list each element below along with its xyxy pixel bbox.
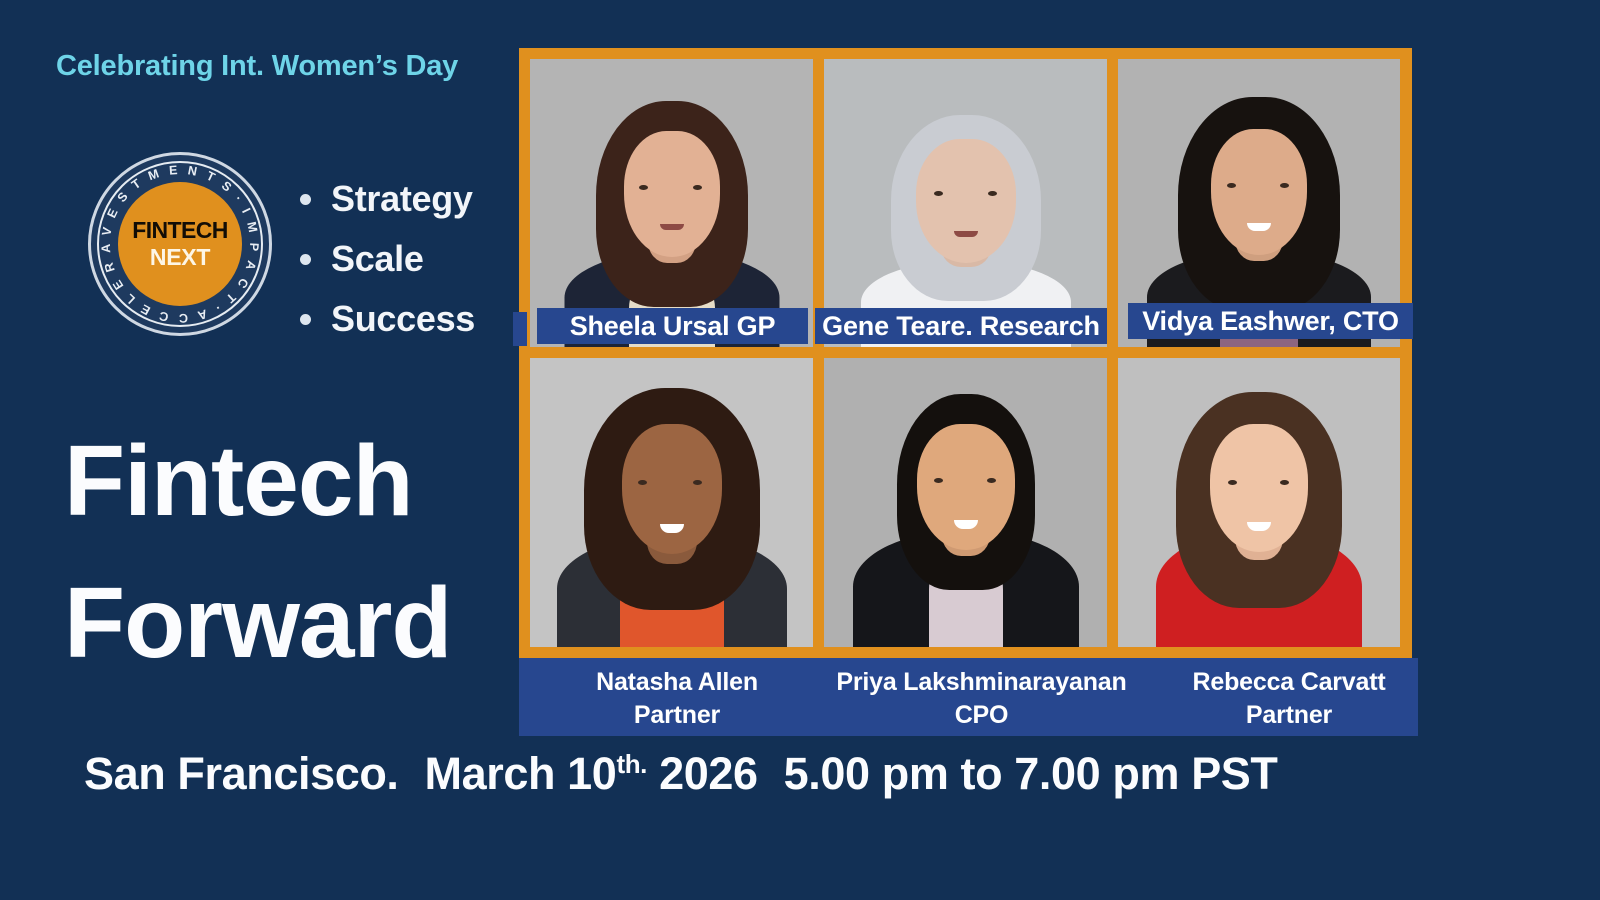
bullet-dot-icon: [300, 194, 311, 205]
speaker-label-bar-bottom: Natasha Allen Partner Priya Lakshminaray…: [519, 658, 1418, 736]
event-city: San Francisco.: [84, 748, 399, 799]
speaker-label-vidya-eashwer: Vidya Eashwer, CTO: [1128, 303, 1413, 339]
speaker-photo-gene-teare: [824, 59, 1107, 347]
logo-core: FINTECH NEXT: [118, 182, 242, 306]
speaker-title: Partner: [1169, 699, 1409, 732]
headline-line-2: Forward: [64, 552, 451, 694]
speaker-label-gene-teare: Gene Teare. Research: [815, 308, 1107, 344]
bullet-label: Scale: [331, 238, 424, 280]
value-prop-list: Strategy Scale Success: [300, 178, 475, 358]
speaker-title: CPO: [804, 699, 1159, 732]
bullet-label: Strategy: [331, 178, 473, 220]
list-item: Success: [300, 298, 475, 340]
event-details: San Francisco.March 10th. 20265.00 pm to…: [84, 748, 1278, 800]
event-date: March 10: [425, 748, 617, 799]
event-poster: Celebrating Int. Women’s Day · I N V E S…: [0, 0, 1600, 900]
speaker-photo-natasha-allen: [530, 358, 813, 647]
speaker-photo-rebecca-carvatt: [1118, 358, 1400, 647]
label-bar-left-tab: [513, 312, 527, 346]
headline-line-1: Fintech: [64, 410, 451, 552]
bullet-dot-icon: [300, 254, 311, 265]
speaker-name: Priya Lakshminarayanan: [804, 666, 1159, 699]
speaker-name: Rebecca Carvatt: [1169, 666, 1409, 699]
event-year: 2026: [659, 748, 758, 799]
logo-text-next: NEXT: [150, 246, 210, 269]
page-title: Fintech Forward: [64, 410, 451, 694]
speaker-row-bottom: [530, 358, 1401, 647]
speaker-photo-priya-lakshminarayanan: [824, 358, 1107, 647]
speaker-label-natasha-allen: Natasha Allen Partner: [547, 666, 807, 732]
bullet-dot-icon: [300, 314, 311, 325]
list-item: Scale: [300, 238, 475, 280]
bullet-label: Success: [331, 298, 475, 340]
speaker-photo-sheela-ursal: [530, 59, 813, 347]
speaker-title: Partner: [547, 699, 807, 732]
event-time: 5.00 pm to 7.00 pm PST: [784, 748, 1278, 799]
speaker-label-rebecca-carvatt: Rebecca Carvatt Partner: [1169, 666, 1409, 732]
fintech-next-logo: · I N V E S T M E N T S · I M P A C T · …: [88, 152, 272, 336]
speaker-label-priya-lakshminarayanan: Priya Lakshminarayanan CPO: [804, 666, 1159, 732]
speaker-photo-grid: [519, 48, 1412, 658]
list-item: Strategy: [300, 178, 475, 220]
speaker-name: Natasha Allen: [547, 666, 807, 699]
speaker-label-sheela-ursal: Sheela Ursal GP: [537, 308, 808, 344]
tagline: Celebrating Int. Women’s Day: [56, 50, 458, 83]
logo-text-fintech: FINTECH: [132, 219, 227, 242]
event-date-ordinal: th.: [616, 749, 647, 779]
